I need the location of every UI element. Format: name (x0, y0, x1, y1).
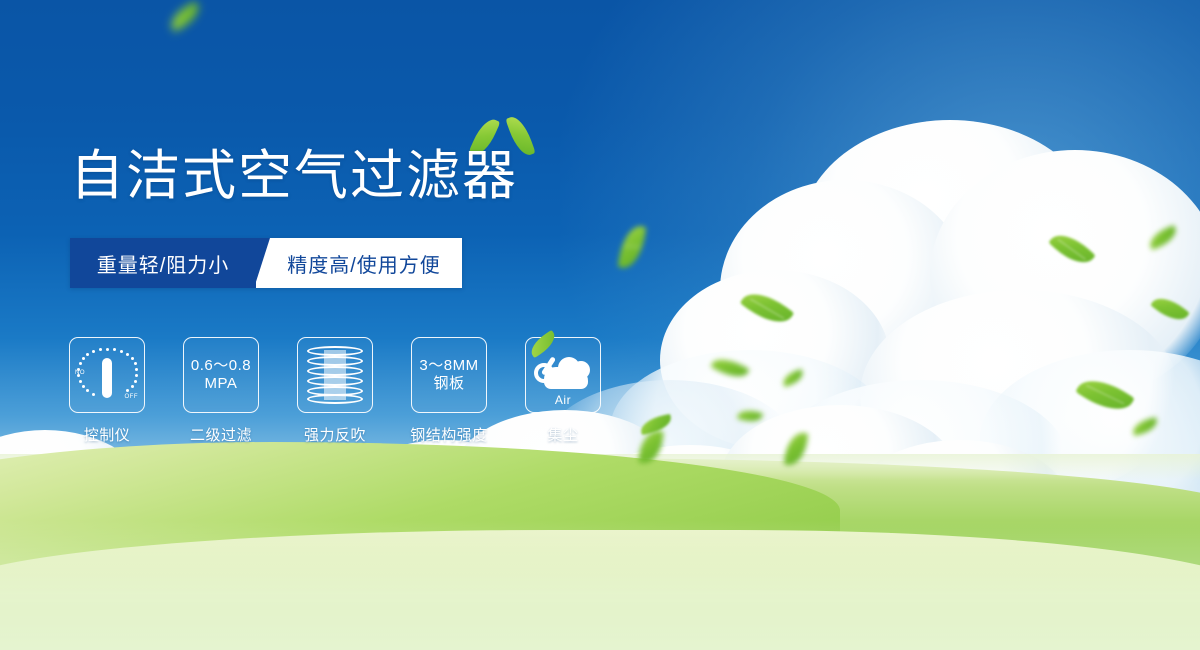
subtitle-secondary: 精度高/使用方便 (256, 238, 462, 288)
steel-plate-text-icon: 3～8MM 钢板 (419, 357, 478, 393)
feature-caption: 控制仪 (84, 424, 131, 445)
pressure-value: 0.6～0.8 (191, 357, 251, 374)
page-title: 自洁式空气过滤器 (70, 146, 518, 206)
grass-sheen (0, 520, 1200, 650)
pressure-unit: MPA (205, 375, 238, 392)
filter-cartridge-icon (307, 346, 363, 404)
subtitle-bar: 重量轻/阻力小 精度高/使用方便 (70, 238, 462, 288)
feature-icon-box: 0.6～0.8 MPA (183, 337, 259, 413)
cloud-air-icon: Air (532, 347, 594, 403)
feature-item-two-stage-filter[interactable]: 0.6～0.8 MPA 二级过滤 (184, 337, 258, 445)
feature-caption: 二级过滤 (190, 424, 252, 445)
feature-item-dust-collection[interactable]: Air 集尘 (526, 337, 600, 445)
dial-gauge-icon: NO OFF (76, 346, 138, 404)
steel-material: 钢板 (433, 375, 464, 392)
cloud-body (544, 367, 588, 389)
pressure-text-icon: 0.6～0.8 MPA (191, 357, 251, 393)
feature-item-steel-strength[interactable]: 3～8MM 钢板 钢结构强度 (412, 337, 486, 445)
feature-icon-box: NO OFF (69, 337, 145, 413)
grass-field (0, 440, 1200, 650)
dial-needle (102, 358, 112, 398)
feature-item-controller[interactable]: NO OFF 控制仪 (70, 337, 144, 445)
hero-banner: 自洁式空气过滤器 重量轻/阻力小 精度高/使用方便 (0, 0, 1200, 650)
feature-caption: 强力反吹 (304, 424, 366, 445)
air-label: Air (532, 393, 594, 407)
dial-label-no: NO (75, 370, 85, 376)
subtitle-primary: 重量轻/阻力小 (70, 238, 256, 288)
dial-label-off: OFF (125, 394, 139, 400)
feature-list: NO OFF 控制仪 0.6～0.8 MPA 二级过滤 (70, 337, 600, 445)
feature-caption: 钢结构强度 (410, 424, 488, 445)
feature-caption: 集尘 (547, 424, 578, 445)
feature-icon-box: Air (525, 337, 601, 413)
feature-icon-box: 3～8MM 钢板 (411, 337, 487, 413)
feature-item-strong-backflush[interactable]: 强力反吹 (298, 337, 372, 445)
steel-thickness: 3～8MM (419, 357, 478, 374)
feature-icon-box (297, 337, 373, 413)
